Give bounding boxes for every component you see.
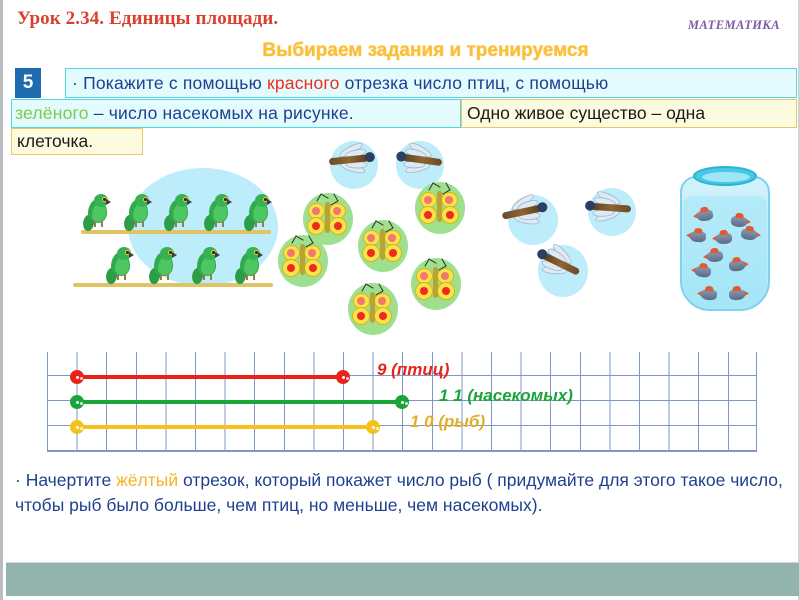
butterfly-spot xyxy=(333,207,341,215)
slide-canvas: Урок 2.34. Единицы площади. МАТЕМАТИКА В… xyxy=(0,0,800,600)
task-line2-part2: – число насекомых на рисунке. xyxy=(89,103,354,123)
butterfly-body xyxy=(325,202,330,233)
butterfly xyxy=(350,289,394,329)
butterfly-body xyxy=(433,267,438,298)
fish-fin xyxy=(732,257,740,263)
butterfly xyxy=(417,188,461,228)
fish-fin xyxy=(719,230,727,236)
parrot-beak xyxy=(147,199,152,205)
fish xyxy=(702,250,725,263)
butterfly-spot xyxy=(312,207,320,215)
parrot-legs xyxy=(255,221,264,227)
parrot-beak xyxy=(267,199,272,205)
segment-label-insects: 1 1 (насекомых) xyxy=(439,386,573,406)
dragonfly xyxy=(580,186,637,230)
butterfly-body xyxy=(437,191,442,222)
task-statement-line-1: · Покажите с помощью красного отрезка чи… xyxy=(65,68,797,98)
subject-label: МАТЕМАТИКА xyxy=(688,18,780,33)
note-box-line-1: Одно живое существо – одна xyxy=(461,99,797,128)
butterfly-spot xyxy=(445,196,453,204)
parrot xyxy=(204,193,232,235)
bottom-task-word-gold: жёлтый xyxy=(116,470,178,490)
butterfly-spot xyxy=(334,222,342,230)
butterfly-spot xyxy=(388,234,396,242)
fish xyxy=(712,232,735,245)
butterfly-spot xyxy=(312,222,320,230)
measurement-grid-area[interactable]: 9 (птиц) 1 1 (насекомых) 1 0 (рыб) xyxy=(47,352,757,452)
segment-green-insects[interactable] xyxy=(77,400,403,404)
parrot-legs xyxy=(160,274,169,280)
butterfly xyxy=(360,226,404,266)
butterfly-spot xyxy=(379,312,387,320)
fish-fin xyxy=(735,213,743,219)
parrot-legs xyxy=(94,221,103,227)
butterfly-spot xyxy=(420,287,428,295)
butterfly-spot xyxy=(287,249,295,257)
bottom-task-part1: · Начертите xyxy=(15,470,116,490)
jar-rim xyxy=(693,166,757,186)
segment-endpoint-icon[interactable] xyxy=(70,370,84,384)
parrot xyxy=(124,193,152,235)
parrot-beak xyxy=(215,252,220,258)
butterfly-spot xyxy=(378,297,386,305)
segment-endpoint-icon[interactable] xyxy=(366,420,380,434)
fish xyxy=(727,288,750,300)
butterfly-spot xyxy=(309,264,317,272)
parrot-beak xyxy=(227,199,232,205)
butterfly-spot xyxy=(367,249,375,257)
parrot xyxy=(83,193,111,235)
butterfly-spot xyxy=(442,287,450,295)
page-title: Урок 2.34. Единицы площади. xyxy=(17,8,278,30)
butterfly xyxy=(413,264,457,304)
parrot xyxy=(149,246,177,288)
parrot xyxy=(192,246,220,288)
section-title: Выбираем задания и тренируемся xyxy=(3,40,798,62)
butterfly-spot xyxy=(424,196,432,204)
parrot xyxy=(235,246,263,288)
task-line1-part2: отрезка число птиц, с помощью xyxy=(340,73,609,93)
parrot-legs xyxy=(117,274,126,280)
fish-jar xyxy=(677,158,773,313)
butterfly-spot xyxy=(357,312,365,320)
task-line2-text: зелёного – число насекомых на рисунке. xyxy=(12,103,354,124)
dragonfly xyxy=(323,137,381,182)
butterfly-spot xyxy=(357,297,365,305)
note-text-line-1: Одно живое существо – одна xyxy=(462,103,705,124)
dragonfly-head xyxy=(364,152,375,163)
butterfly xyxy=(280,241,324,281)
segment-endpoint-icon[interactable] xyxy=(336,370,350,384)
parrot-legs xyxy=(203,274,212,280)
parrot-beak xyxy=(106,199,111,205)
fish-fin xyxy=(699,263,707,269)
fish-fin xyxy=(705,286,713,291)
segment-label-birds: 9 (птиц) xyxy=(377,360,449,380)
butterfly-spot xyxy=(287,264,295,272)
fish-fin xyxy=(694,228,702,234)
segment-yellow-fish[interactable] xyxy=(77,425,373,429)
bottom-task-text: · Начертите жёлтый отрезок, который пока… xyxy=(15,468,790,518)
illustration-area xyxy=(3,140,800,345)
butterfly-spot xyxy=(389,249,397,257)
parrot-legs xyxy=(175,221,184,227)
task-line1-text: · Покажите с помощью красного отрезка чи… xyxy=(66,73,608,94)
task-word-green: зелёного xyxy=(15,103,89,123)
segment-endpoint-icon[interactable] xyxy=(70,420,84,434)
fish-fin xyxy=(733,286,741,291)
parrot-legs xyxy=(215,221,224,227)
fish xyxy=(697,288,720,300)
fish xyxy=(686,230,709,243)
segment-endpoint-icon[interactable] xyxy=(70,395,84,409)
butterfly-spot xyxy=(420,272,428,280)
parrot xyxy=(244,193,272,235)
segment-red-birds[interactable] xyxy=(77,375,343,379)
parrot-beak xyxy=(129,252,134,258)
butterfly-spot xyxy=(441,272,449,280)
butterfly-body xyxy=(370,292,375,323)
fish xyxy=(691,265,714,278)
footer-bar xyxy=(6,563,799,596)
task-number-badge: 5 xyxy=(15,68,41,98)
parrot-legs xyxy=(246,274,255,280)
fish-fin xyxy=(710,248,718,254)
task-word-red: красного xyxy=(267,73,340,93)
butterfly xyxy=(305,199,349,239)
parrot-beak xyxy=(187,199,192,205)
parrot xyxy=(164,193,192,235)
fish-fin xyxy=(746,225,755,231)
fish xyxy=(727,259,750,272)
dragonfly xyxy=(389,136,448,183)
parrot xyxy=(106,246,134,288)
segment-label-fish: 1 0 (рыб) xyxy=(410,412,485,432)
butterfly-spot xyxy=(367,234,375,242)
butterfly-body xyxy=(300,244,305,275)
task-line1-part1: · Покажите с помощью xyxy=(72,73,267,93)
butterfly-body xyxy=(380,229,385,260)
task-statement-line-2: зелёного – число насекомых на рисунке. xyxy=(11,99,461,128)
butterfly-spot xyxy=(424,211,432,219)
butterfly-spot xyxy=(308,249,316,257)
parrot-legs xyxy=(135,221,144,227)
parrot-beak xyxy=(172,252,177,258)
butterfly-spot xyxy=(446,211,454,219)
parrot-beak xyxy=(258,252,263,258)
